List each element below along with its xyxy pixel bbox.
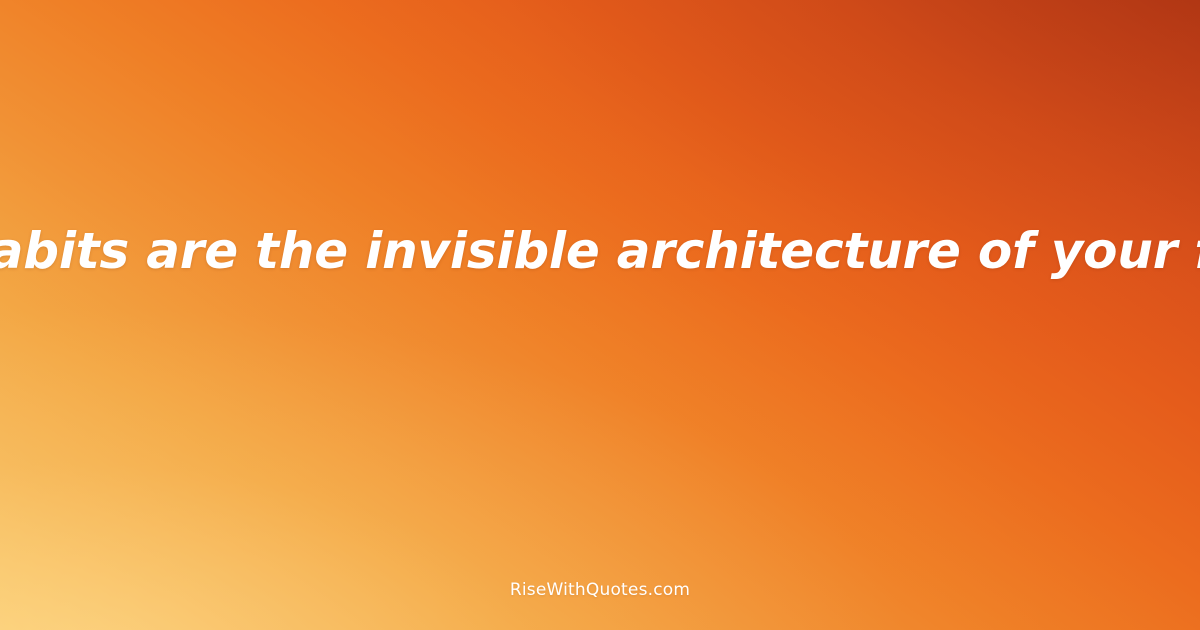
footer-container: RiseWithQuotes.com (0, 580, 1200, 600)
quote-container: “Your habits are the invisible architect… (0, 222, 1200, 281)
background-glow-overlay (0, 0, 1200, 630)
site-attribution: RiseWithQuotes.com (510, 580, 690, 600)
background-shade-overlay (0, 0, 1200, 630)
quote-poster: “Your habits are the invisible architect… (0, 0, 1200, 630)
quote-text: “Your habits are the invisible architect… (0, 222, 1200, 281)
